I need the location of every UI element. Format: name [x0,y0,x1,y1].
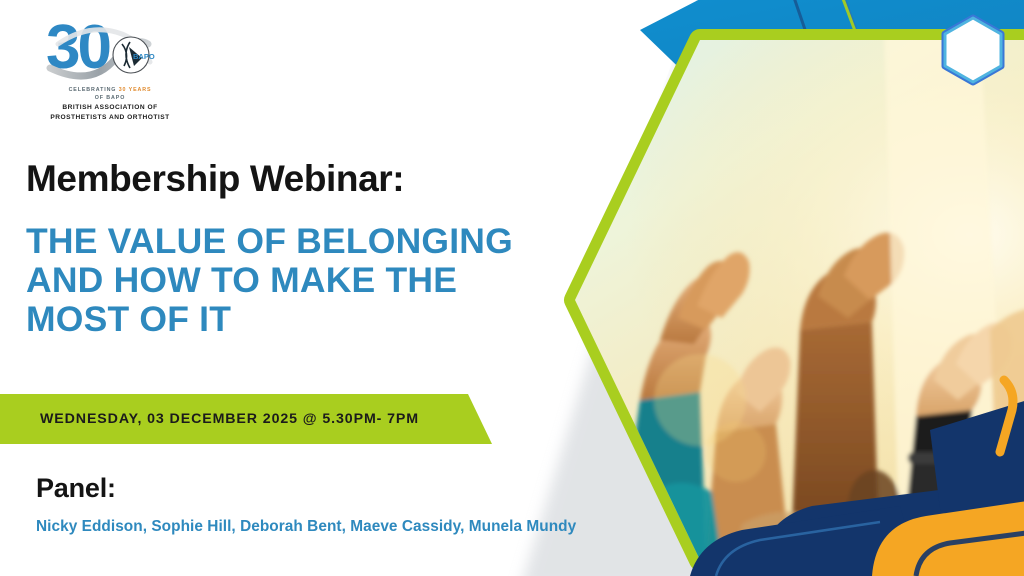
bapo-logo: 30 BAPO CELEBRATING 30 YEARS OF BAPO BRI… [30,8,190,123]
page-title: Membership Webinar: [26,158,404,200]
bapo-logo-mark: 30 BAPO [30,8,190,86]
logo-org-line-2: PROSTHETISTS AND ORTHOTIST [50,114,169,121]
logo-org-line-1: BRITISH ASSOCIATION OF [62,104,157,111]
date-banner: WEDNESDAY, 03 DECEMBER 2025 @ 5.30PM- 7P… [0,394,492,444]
webinar-promo-canvas: 30 BAPO CELEBRATING 30 YEARS OF BAPO BRI… [0,0,1024,576]
logo-years-word: 30 YEARS [119,87,152,93]
logo-emblem-text: BAPO [133,52,155,61]
logo-celebrating-word: CELEBRATING [69,87,117,93]
logo-of-bapo-word: OF BAPO [95,95,125,101]
date-banner-label: WEDNESDAY, 03 DECEMBER 2025 @ 5.30PM- 7P… [40,394,419,444]
hexagon-outline-badge [945,18,1001,82]
panel-members-list: Nicky Eddison, Sophie Hill, Deborah Bent… [36,518,576,536]
page-subtitle: THE VALUE OF BELONGING AND HOW TO MAKE T… [26,222,546,339]
logo-celebrating-caption: CELEBRATING 30 YEARS OF BAPO [30,87,190,102]
panel-label: Panel: [36,473,116,504]
logo-org-name: BRITISH ASSOCIATION OF PROSTHETISTS AND … [30,103,190,122]
